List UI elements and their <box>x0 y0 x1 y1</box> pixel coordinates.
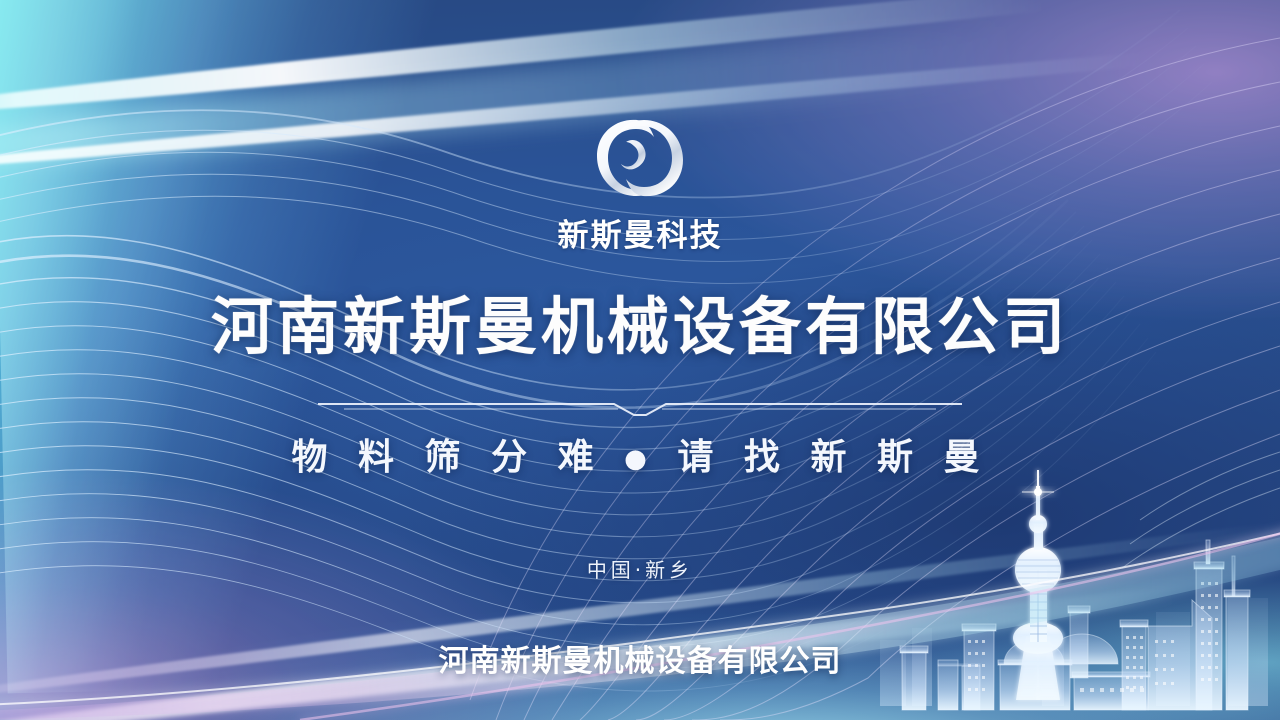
footer-company-name: 河南新斯曼机械设备有限公司 <box>0 636 1280 680</box>
interlocking-s-swirl-logo <box>588 112 692 204</box>
title-slide: 新斯曼科技 河南新斯曼机械设备有限公司 物 料 筛 分 难 ● 请 找 新 斯 … <box>0 0 1280 720</box>
slogan-left: 物 料 筛 分 难 <box>291 437 602 478</box>
slogan-right: 请 找 新 斯 曼 <box>677 437 988 478</box>
brand-wordmark: 新斯曼科技 <box>558 210 723 255</box>
slogan: 物 料 筛 分 难 ● 请 找 新 斯 曼 <box>0 428 1280 480</box>
page-title: 河南新斯曼机械设备有限公司 <box>0 296 1280 358</box>
v-notch-divider <box>318 396 962 420</box>
brand-logo-block: 新斯曼科技 <box>0 112 1280 255</box>
slogan-separator-dot: ● <box>624 444 656 474</box>
location-label: 中国·新乡 <box>0 554 1280 583</box>
